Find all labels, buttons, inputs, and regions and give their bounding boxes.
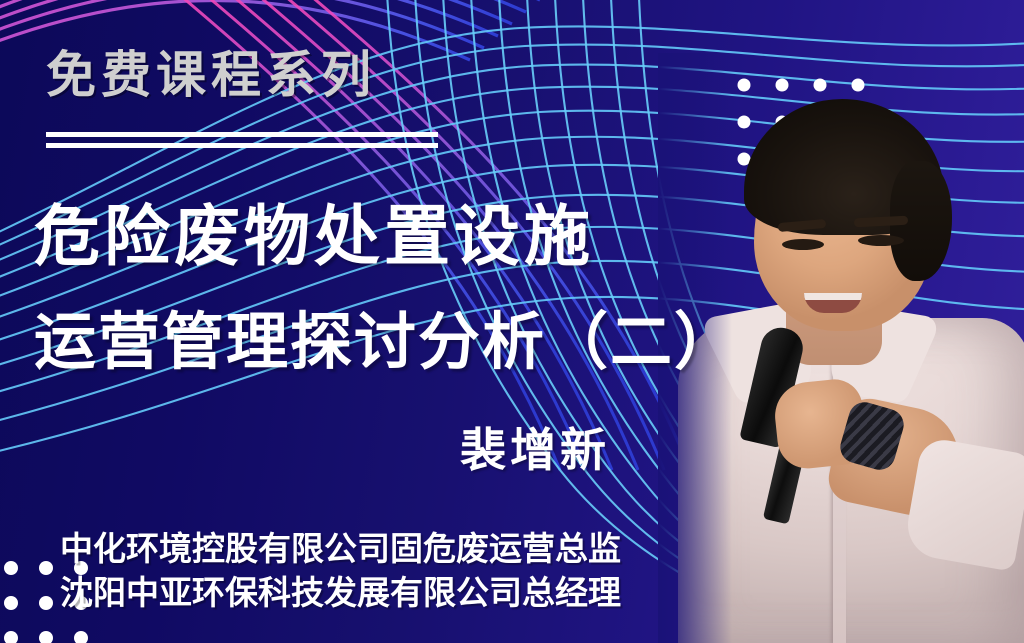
course-poster: 免费课程系列 危险废物处置设施 运营管理探讨分析（二） 裴增新 中化环境控股有限… [0, 0, 1024, 643]
title-line-1: 危险废物处置设施 [34, 205, 594, 271]
sleeve-cuff [903, 436, 1024, 572]
speaker-name: 裴增新 [460, 428, 610, 474]
eye-left [782, 239, 824, 250]
series-kicker: 免费课程系列 [46, 50, 376, 100]
title-line-2: 运营管理探讨分析（二） [34, 312, 738, 374]
hair [744, 99, 944, 235]
eye-right [858, 235, 904, 246]
divider-rule-1 [46, 132, 438, 137]
speaker-credential-2: 沈阳中亚环保科技发展有限公司总经理 [60, 578, 621, 611]
divider-rule-2 [46, 143, 438, 148]
speaker-credential-1: 中化环境控股有限公司固危废运营总监 [60, 534, 621, 567]
divider-rules [46, 132, 438, 148]
